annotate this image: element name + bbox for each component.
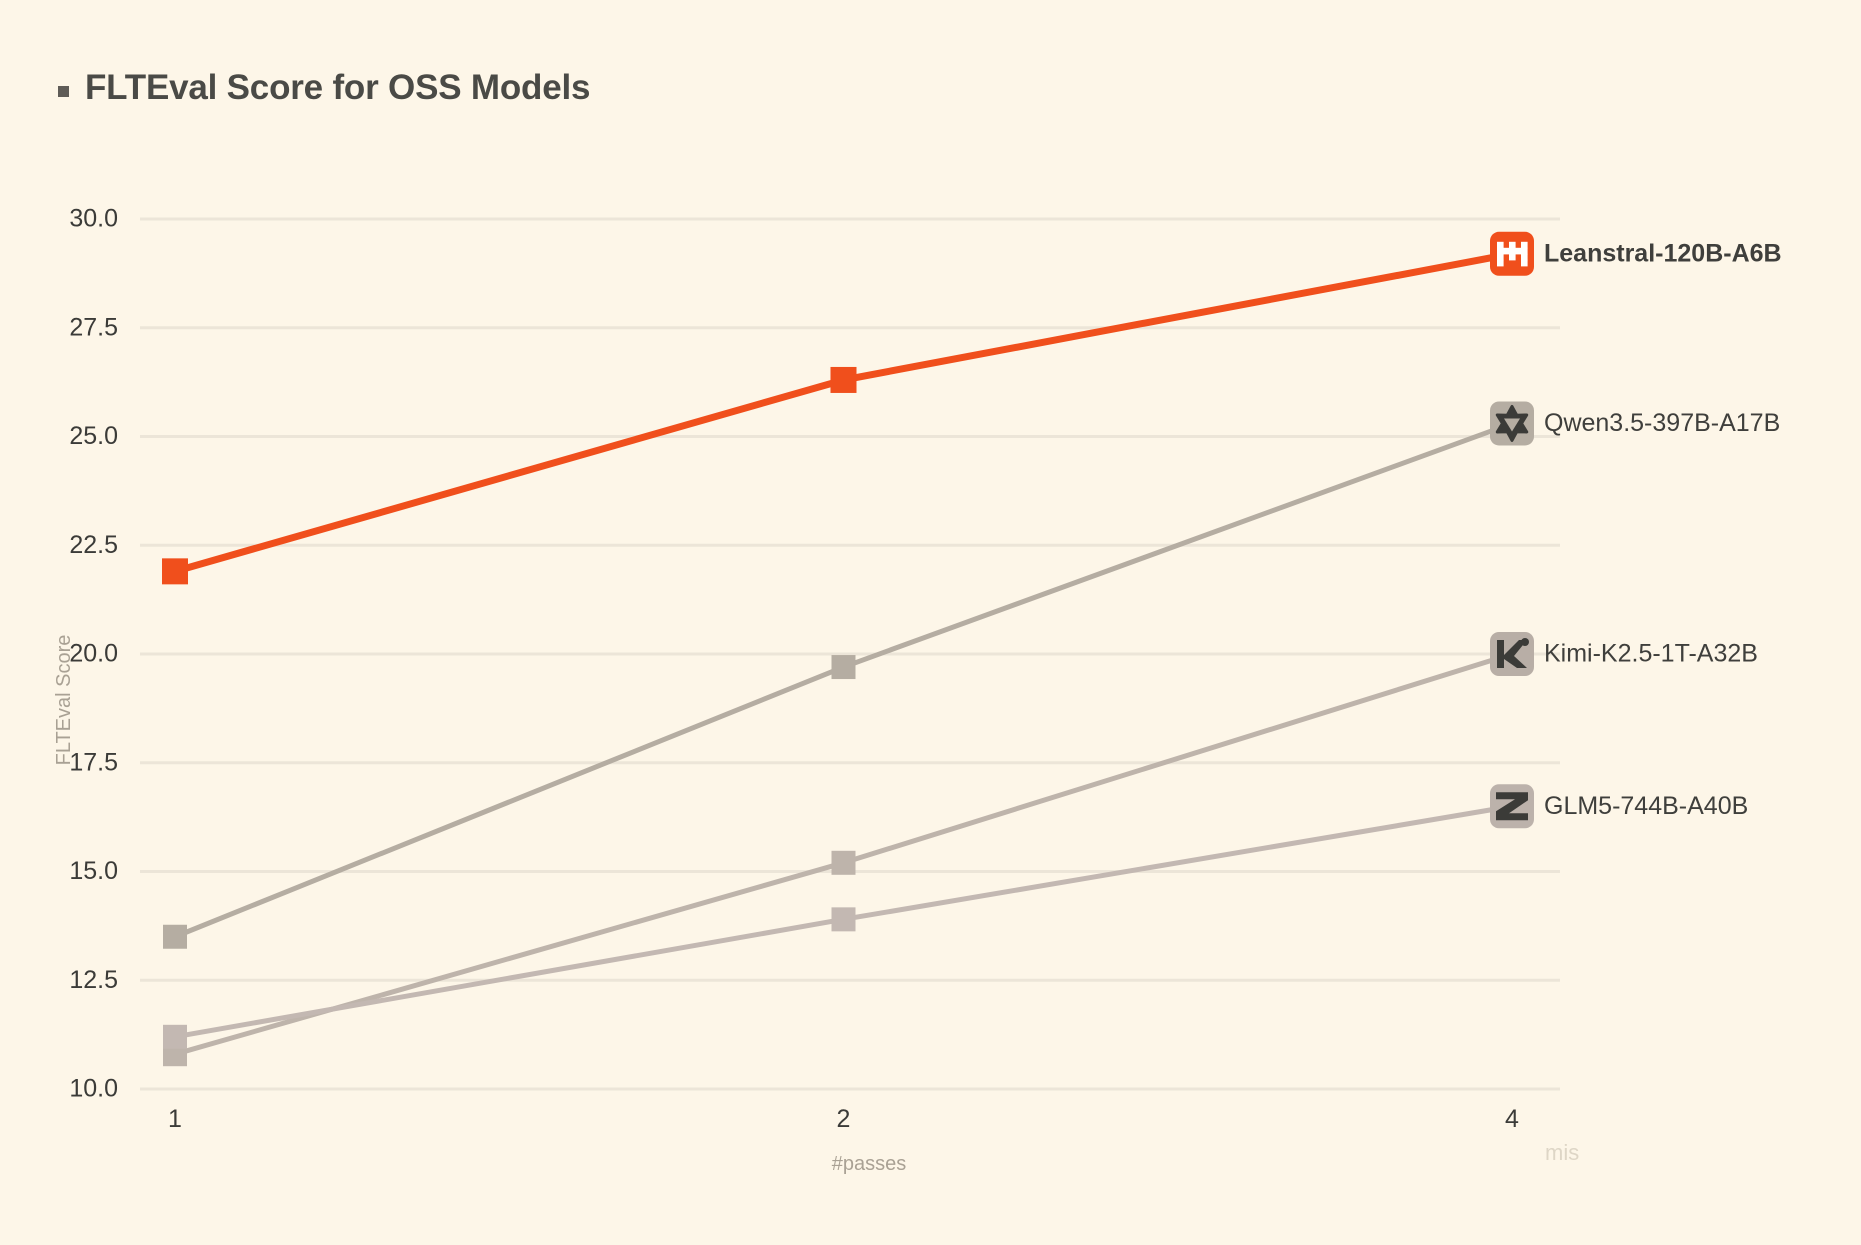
series-marker	[832, 655, 856, 679]
y-tick-label: 30.0	[69, 205, 118, 233]
logo-cell	[1497, 260, 1504, 267]
y-tick-label: 22.5	[69, 531, 118, 559]
y-tick-label: 12.5	[69, 966, 118, 994]
logo-cell	[1521, 242, 1528, 249]
y-tick-label: 10.0	[69, 1075, 118, 1103]
chart-area: 30.027.525.022.520.017.515.012.510.0 124…	[0, 0, 1861, 1245]
endpoint-legend-item[interactable]: Kimi-K2.5-1T-A32B	[1490, 632, 1758, 676]
logo-cell	[1497, 242, 1504, 249]
series-markers	[162, 367, 857, 1066]
x-tick-label: 2	[837, 1105, 851, 1133]
series-marker	[163, 1025, 187, 1049]
series-marker	[163, 925, 187, 949]
series-marker	[832, 907, 856, 931]
logo-cell	[1497, 248, 1504, 255]
endpoint-legend-item[interactable]: Leanstral-120B-A6B	[1490, 232, 1782, 276]
series-endpoint-legend: Leanstral-120B-A6BQwen3.5-397B-A17BKimi-…	[1490, 232, 1782, 828]
series-marker	[831, 367, 857, 393]
logo-cell	[1497, 254, 1504, 261]
logo-cell	[1515, 248, 1522, 255]
series-line	[175, 254, 1512, 572]
logo-dot	[1521, 638, 1529, 646]
series-marker	[832, 851, 856, 875]
y-tick-label: 27.5	[69, 313, 118, 341]
logo-cell	[1521, 248, 1528, 255]
watermark-label: mis	[1545, 1140, 1579, 1165]
logo-cell	[1503, 248, 1510, 255]
series-marker	[162, 558, 188, 584]
series-label: Leanstral-120B-A6B	[1544, 239, 1782, 267]
series-label: Qwen3.5-397B-A17B	[1544, 409, 1780, 437]
logo-cell	[1509, 254, 1516, 261]
logo-cell	[1521, 260, 1528, 267]
series-label: Kimi-K2.5-1T-A32B	[1544, 640, 1758, 668]
y-tick-label: 20.0	[69, 640, 118, 668]
endpoint-legend-item[interactable]: GLM5-744B-A40B	[1490, 784, 1748, 828]
y-tick-label: 15.0	[69, 857, 118, 885]
y-tick-label: 25.0	[69, 422, 118, 450]
logo-cell	[1509, 242, 1516, 249]
x-axis-title: #passes	[832, 1153, 907, 1175]
y-tick-label: 17.5	[69, 748, 118, 776]
y-axis-title: FLTEval Score	[53, 635, 75, 766]
endpoint-legend-item[interactable]: Qwen3.5-397B-A17B	[1490, 401, 1780, 445]
logo-cell	[1521, 254, 1528, 261]
grid-lines	[140, 219, 1560, 1089]
logo-cell	[1509, 248, 1516, 255]
line-chart: 30.027.525.022.520.017.515.012.510.0 124…	[0, 0, 1861, 1245]
x-axis-ticks: 124	[168, 1105, 1519, 1133]
y-axis-ticks: 30.027.525.022.520.017.515.012.510.0	[69, 205, 118, 1103]
x-tick-label: 1	[168, 1105, 182, 1133]
x-tick-label: 4	[1505, 1105, 1519, 1133]
series-label: GLM5-744B-A40B	[1544, 792, 1748, 820]
logo-bar	[1497, 640, 1504, 668]
